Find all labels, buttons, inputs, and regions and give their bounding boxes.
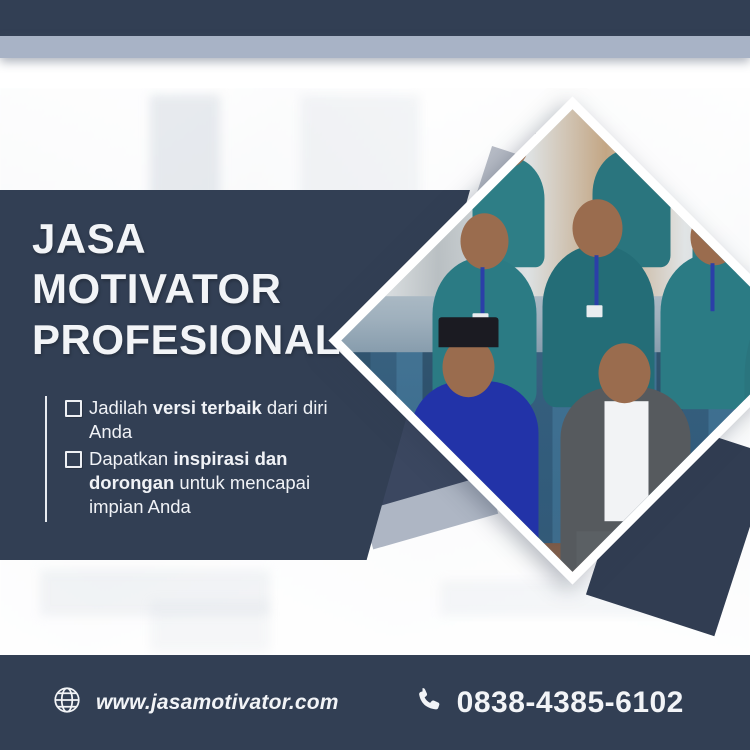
- headline-line-3: PROFESIONAL: [32, 315, 341, 365]
- photo-lanyard: [595, 255, 599, 307]
- bullet-1-bold: versi terbaik: [153, 397, 262, 418]
- top-lightblue-band: [0, 36, 750, 58]
- photo-person: [661, 253, 750, 409]
- photo-person-head: [599, 343, 651, 403]
- list-item-text: Jadilah versi terbaik dari diri Anda: [89, 396, 365, 444]
- promo-banner: JASA MOTIVATOR PROFESIONAL Jadilah versi…: [0, 0, 750, 750]
- list-item: Dapatkan inspirasi dan dorongan untuk me…: [65, 447, 365, 519]
- top-white-gap: [0, 58, 750, 88]
- globe-icon: [52, 685, 82, 720]
- phone-text: 0838-4385-6102: [457, 686, 684, 720]
- footer-bar: www.jasamotivator.com 0838-4385-6102: [0, 655, 750, 750]
- checkbox-icon: [65, 451, 82, 468]
- photo-songkok-cap: [439, 317, 499, 347]
- checkbox-icon: [65, 400, 82, 417]
- website-text: www.jasamotivator.com: [96, 691, 339, 715]
- top-navy-band: [0, 0, 750, 36]
- benefits-list: Jadilah versi terbaik dari diri Anda Dap…: [45, 396, 365, 522]
- photo-badge: [587, 305, 603, 317]
- headline-line-1: JASA: [32, 214, 341, 264]
- photo-shirt-white: [605, 401, 649, 521]
- footer-phone[interactable]: 0838-4385-6102: [414, 685, 684, 720]
- list-item: Jadilah versi terbaik dari diri Anda: [65, 396, 365, 444]
- footer-website[interactable]: www.jasamotivator.com: [52, 685, 339, 720]
- photo-person-head: [573, 199, 623, 257]
- page-title: JASA MOTIVATOR PROFESIONAL: [32, 214, 341, 365]
- bullet-2-pre: Dapatkan: [89, 448, 173, 469]
- photo-lanyard: [481, 267, 485, 315]
- photo-person-head: [461, 213, 509, 269]
- phone-icon: [414, 685, 444, 720]
- photo-lanyard: [711, 263, 715, 311]
- list-item-text: Dapatkan inspirasi dan dorongan untuk me…: [89, 447, 365, 519]
- bullet-1-pre: Jadilah: [89, 397, 153, 418]
- headline-line-2: MOTIVATOR: [32, 264, 341, 314]
- background-streak: [150, 600, 270, 652]
